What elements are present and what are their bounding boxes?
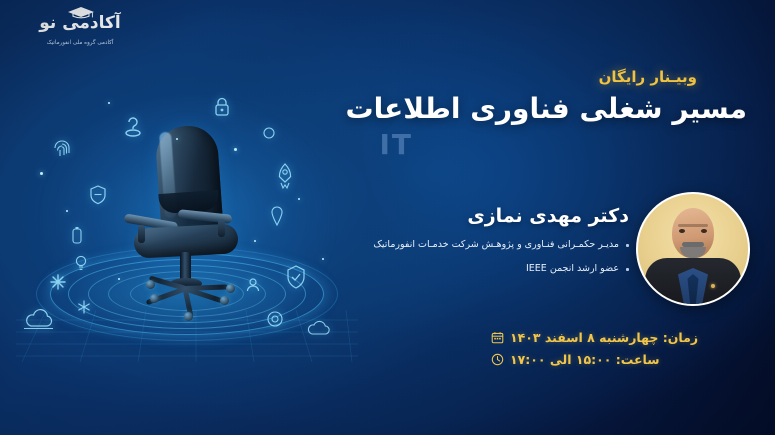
avatar-brow: [678, 224, 708, 227]
hero-artwork: [22, 78, 352, 358]
gear-icon: [264, 308, 286, 330]
battery-icon: [71, 226, 83, 246]
calendar-icon: [491, 331, 504, 344]
clock-icon: [491, 353, 504, 366]
spark-dot: [234, 148, 237, 151]
avatar: [636, 192, 750, 306]
logo-wordmark: آکادمی نو: [14, 8, 146, 38]
shield-icon: [88, 184, 108, 206]
office-chair: [114, 126, 264, 308]
speaker-credentials: مدیـر حکمـرانی فنـاوری و پژوهـش شرکت خدم…: [359, 238, 629, 285]
schedule-time-text: ساعت: ۱۵:۰۰ الی ۱۷:۰۰: [510, 352, 660, 367]
asterisk-icon: [50, 274, 66, 290]
chair-caster-1: [220, 296, 229, 305]
chair-caster-5: [184, 312, 193, 321]
avatar-suit: [645, 258, 741, 306]
chair-leg-2: [184, 284, 228, 291]
logo-mark: آکادمی نو: [14, 8, 146, 38]
avatar-eyes: [679, 229, 707, 233]
avatar-lapel-pin: [711, 284, 715, 288]
chair-caster-2: [226, 284, 235, 293]
speaker-name: دکتر مهدی نمازی: [467, 205, 629, 227]
rocket-icon: [274, 162, 296, 192]
schedule-time-row: ساعت: ۱۵:۰۰ الی ۱۷:۰۰: [491, 352, 751, 367]
content-panel: وبیـنار رایگان مسیر شغلی فناوری اطلاعات …: [305, 0, 775, 435]
spark-dot: [66, 210, 68, 212]
lock-icon: [212, 96, 232, 118]
chip-icon: [262, 126, 276, 140]
chair-arm-post-left: [138, 225, 145, 243]
schedule-date-row: زمان: چهارشنبه ۸ اسفند ۱۴۰۳: [491, 330, 751, 345]
location-pin-icon: [270, 206, 284, 226]
brand-logo[interactable]: آکادمی نو آکادمی گروه ملی انفورماتیک: [14, 8, 146, 56]
list-item: مدیـر حکمـرانی فنـاوری و پژوهـش شرکت خدم…: [359, 238, 629, 253]
title-subtext-it: IT: [379, 128, 413, 161]
page-title: مسیر شغلی فناوری اطلاعات: [346, 92, 748, 125]
question-mark-icon: [122, 114, 144, 140]
webinar-banner: آکادمی نو آکادمی گروه ملی انفورماتیک: [0, 0, 775, 435]
bulb-icon: [74, 254, 88, 272]
user-icon: [244, 276, 262, 294]
spark-dot: [298, 198, 300, 200]
eyebrow-free-webinar: وبیـنار رایگان: [599, 68, 697, 86]
list-item: عضو ارشد انجمن IEEE: [359, 262, 629, 277]
spark-dot: [40, 172, 43, 175]
spark-dot: [118, 278, 120, 280]
schedule-block: زمان: چهارشنبه ۸ اسفند ۱۴۰۳ ساعت: ۱۵:۰۰ …: [491, 330, 751, 374]
cloud-icon: [22, 308, 56, 330]
spark-dot: [176, 138, 178, 140]
chair-caster-3: [146, 280, 155, 289]
logo-subtitle: آکادمی گروه ملی انفورماتیک: [14, 40, 146, 46]
fingerprint-icon: [52, 138, 72, 162]
schedule-date-text: زمان: چهارشنبه ۸ اسفند ۱۴۰۳: [510, 330, 698, 345]
chair-arm-post-right: [218, 219, 225, 237]
chair-caster-4: [150, 294, 159, 303]
snowflake-icon: [77, 300, 91, 314]
spark-dot: [254, 240, 256, 242]
spark-dot: [108, 102, 110, 104]
